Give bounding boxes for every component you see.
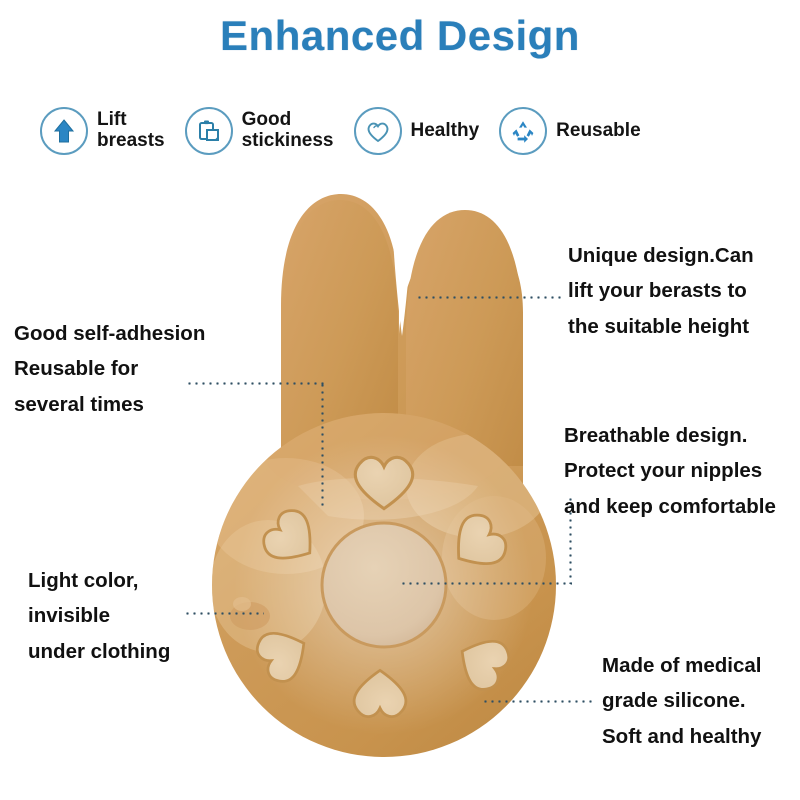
clipboard-sticky-icon <box>185 107 233 155</box>
feature-badge-row: Lift breasts Good stickiness Healthy <box>40 100 770 162</box>
callout-medical-grade-silicone: Made of medical grade silicone. Soft and… <box>602 648 800 754</box>
feature-healthy: Healthy <box>354 107 480 155</box>
feature-lift-breasts-label: Lift breasts <box>97 110 165 151</box>
feature-reusable-label: Reusable <box>556 121 640 142</box>
leader-line-adhesion-vertical <box>321 382 324 510</box>
callout-good-self-adhesion: Good self-adhesion Reusable for several … <box>14 316 254 422</box>
product-image-rabbit-ear-lift-pad <box>178 186 582 766</box>
leader-line-breathable-horizontal <box>400 582 572 585</box>
callout-breathable-design: Breathable design. Protect your nipples … <box>564 418 800 524</box>
feature-good-stickiness: Good stickiness <box>185 107 334 155</box>
leader-line-unique <box>416 296 564 299</box>
recycle-icon <box>499 107 547 155</box>
page-title: Enhanced Design <box>0 12 800 60</box>
feature-lift-breasts: Lift breasts <box>40 107 165 155</box>
heart-icon <box>354 107 402 155</box>
callout-light-color: Light color, invisible under clothing <box>28 563 248 669</box>
feature-good-stickiness-label: Good stickiness <box>242 110 334 151</box>
arrow-up-icon <box>40 107 88 155</box>
feature-healthy-label: Healthy <box>411 121 480 142</box>
callout-unique-design: Unique design.Can lift your berasts to t… <box>568 238 800 344</box>
feature-reusable: Reusable <box>499 107 640 155</box>
leader-line-silicone <box>482 700 594 703</box>
